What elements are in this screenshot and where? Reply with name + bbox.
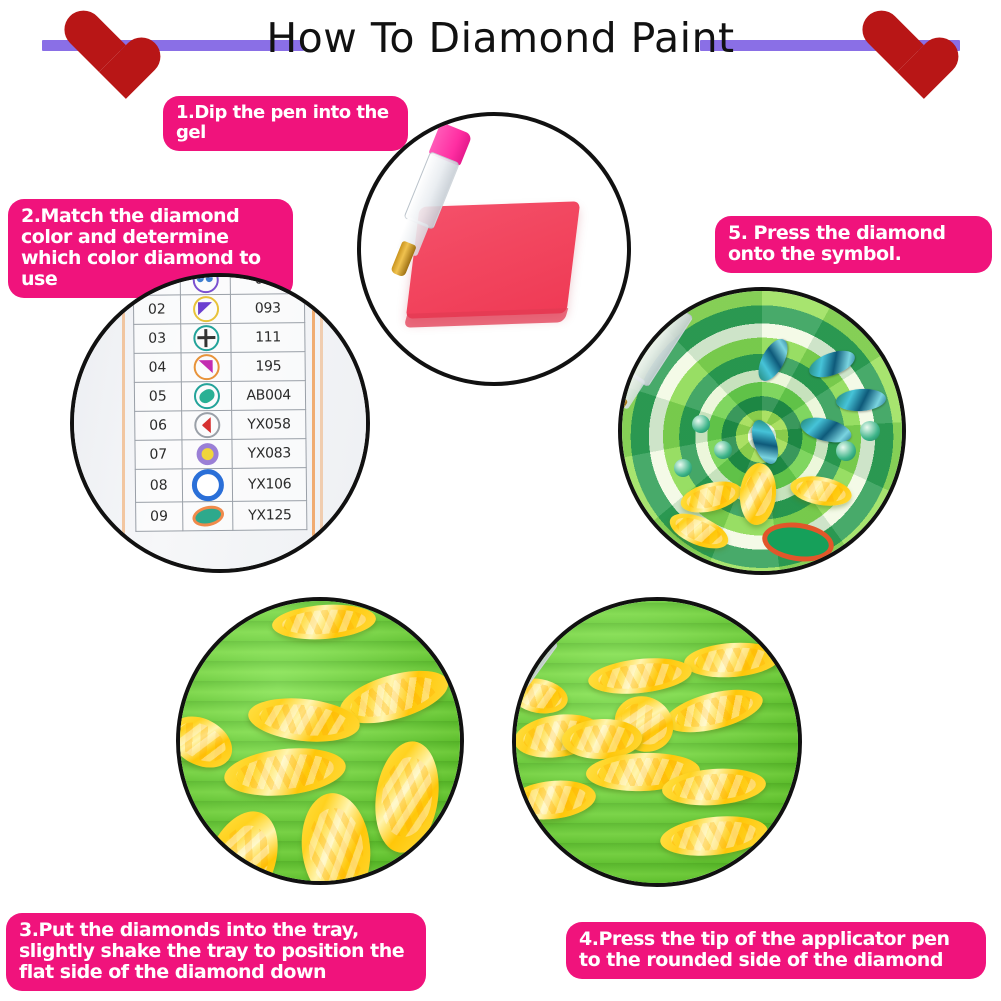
rhinestone xyxy=(692,415,710,433)
legend-number: 04 xyxy=(134,353,181,382)
legend-symbol xyxy=(182,439,233,469)
legend-code: 028 xyxy=(231,273,305,294)
legend-symbol xyxy=(182,501,233,531)
legend-symbol xyxy=(181,381,232,411)
step-5-photo xyxy=(618,287,906,575)
chevron xyxy=(202,417,211,433)
magenta-triangle-in-orange-circle-icon xyxy=(193,354,219,380)
dot xyxy=(196,275,203,282)
step-4-label: 4.Press the tip of the applicator pen to… xyxy=(566,922,986,979)
table-row: 04 195 xyxy=(134,352,305,383)
page-header: How To Diamond Paint xyxy=(0,0,1001,88)
step-3-label: 3.Put the diamonds into the tray, slight… xyxy=(6,913,426,991)
table-row: 08 YX106 xyxy=(135,468,306,503)
teal-oval-in-teal-circle-icon xyxy=(193,383,219,409)
legend-number: 07 xyxy=(135,440,182,469)
rhinestone xyxy=(836,441,856,461)
triangle xyxy=(198,360,212,373)
canvas-edge-line xyxy=(320,277,323,569)
yellow-dot-in-purple-ring-icon xyxy=(196,443,218,465)
double-dot-in-purple-circle-icon xyxy=(192,273,218,293)
rhinestone xyxy=(714,441,732,459)
dot xyxy=(201,448,213,460)
purple-triangle-in-yellow-circle-icon xyxy=(192,296,218,322)
legend-number: 03 xyxy=(134,324,181,353)
legend-code: YX125 xyxy=(233,501,307,531)
table-row: 03 111 xyxy=(134,323,305,354)
page-title: How To Diamond Paint xyxy=(0,14,1001,62)
legend-code: 093 xyxy=(231,294,305,324)
legend-code: 111 xyxy=(231,323,305,353)
legend-number: 09 xyxy=(136,502,183,531)
pen-neck xyxy=(512,683,515,724)
table-row: 06 YX058 xyxy=(135,410,306,441)
step-1-photo xyxy=(357,112,631,386)
legend-code: AB004 xyxy=(232,381,306,411)
legend-code: YX106 xyxy=(233,468,307,502)
legend-symbol xyxy=(180,323,231,353)
legend-table: 028 02 093 03 xyxy=(133,273,308,532)
legend-code: 195 xyxy=(231,352,305,382)
teal-marquise-with-orange-outline-icon xyxy=(190,503,226,529)
dot xyxy=(205,275,212,282)
legend-number xyxy=(133,273,180,295)
legend-code: YX083 xyxy=(232,439,306,469)
table-row: 07 YX083 xyxy=(135,439,306,470)
table-row: 02 093 xyxy=(133,294,304,325)
legend-symbol xyxy=(180,273,231,295)
legend-number: 08 xyxy=(135,469,182,502)
step-2-photo: 028 02 093 03 xyxy=(70,273,370,573)
legend-symbol xyxy=(181,410,232,440)
rhinestone xyxy=(674,459,692,477)
plus-bar xyxy=(204,329,207,347)
oval xyxy=(196,387,216,406)
legend-code: YX058 xyxy=(232,410,306,440)
legend-number: 02 xyxy=(133,295,180,324)
plus-cross-in-teal-circle-icon xyxy=(193,325,219,351)
red-chevron-in-gray-circle-icon xyxy=(194,412,220,438)
canvas-edge-line xyxy=(122,277,125,569)
step-4-photo xyxy=(512,597,802,887)
table-row: 09 YX125 xyxy=(136,501,307,532)
table-row: 028 xyxy=(133,273,304,295)
legend-number: 06 xyxy=(135,411,182,440)
legend-number: 05 xyxy=(134,382,181,411)
step-5-label: 5. Press the diamond onto the symbol. xyxy=(715,216,992,273)
triangle xyxy=(198,302,212,315)
canvas-edge-line xyxy=(312,277,315,569)
legend-symbol xyxy=(182,468,233,502)
step-3-photo xyxy=(176,597,464,885)
blue-ring-icon xyxy=(191,469,223,501)
table-row: 05 AB004 xyxy=(134,381,305,412)
legend-symbol xyxy=(181,352,232,382)
legend-symbol xyxy=(180,294,231,324)
rhinestone xyxy=(860,421,880,441)
